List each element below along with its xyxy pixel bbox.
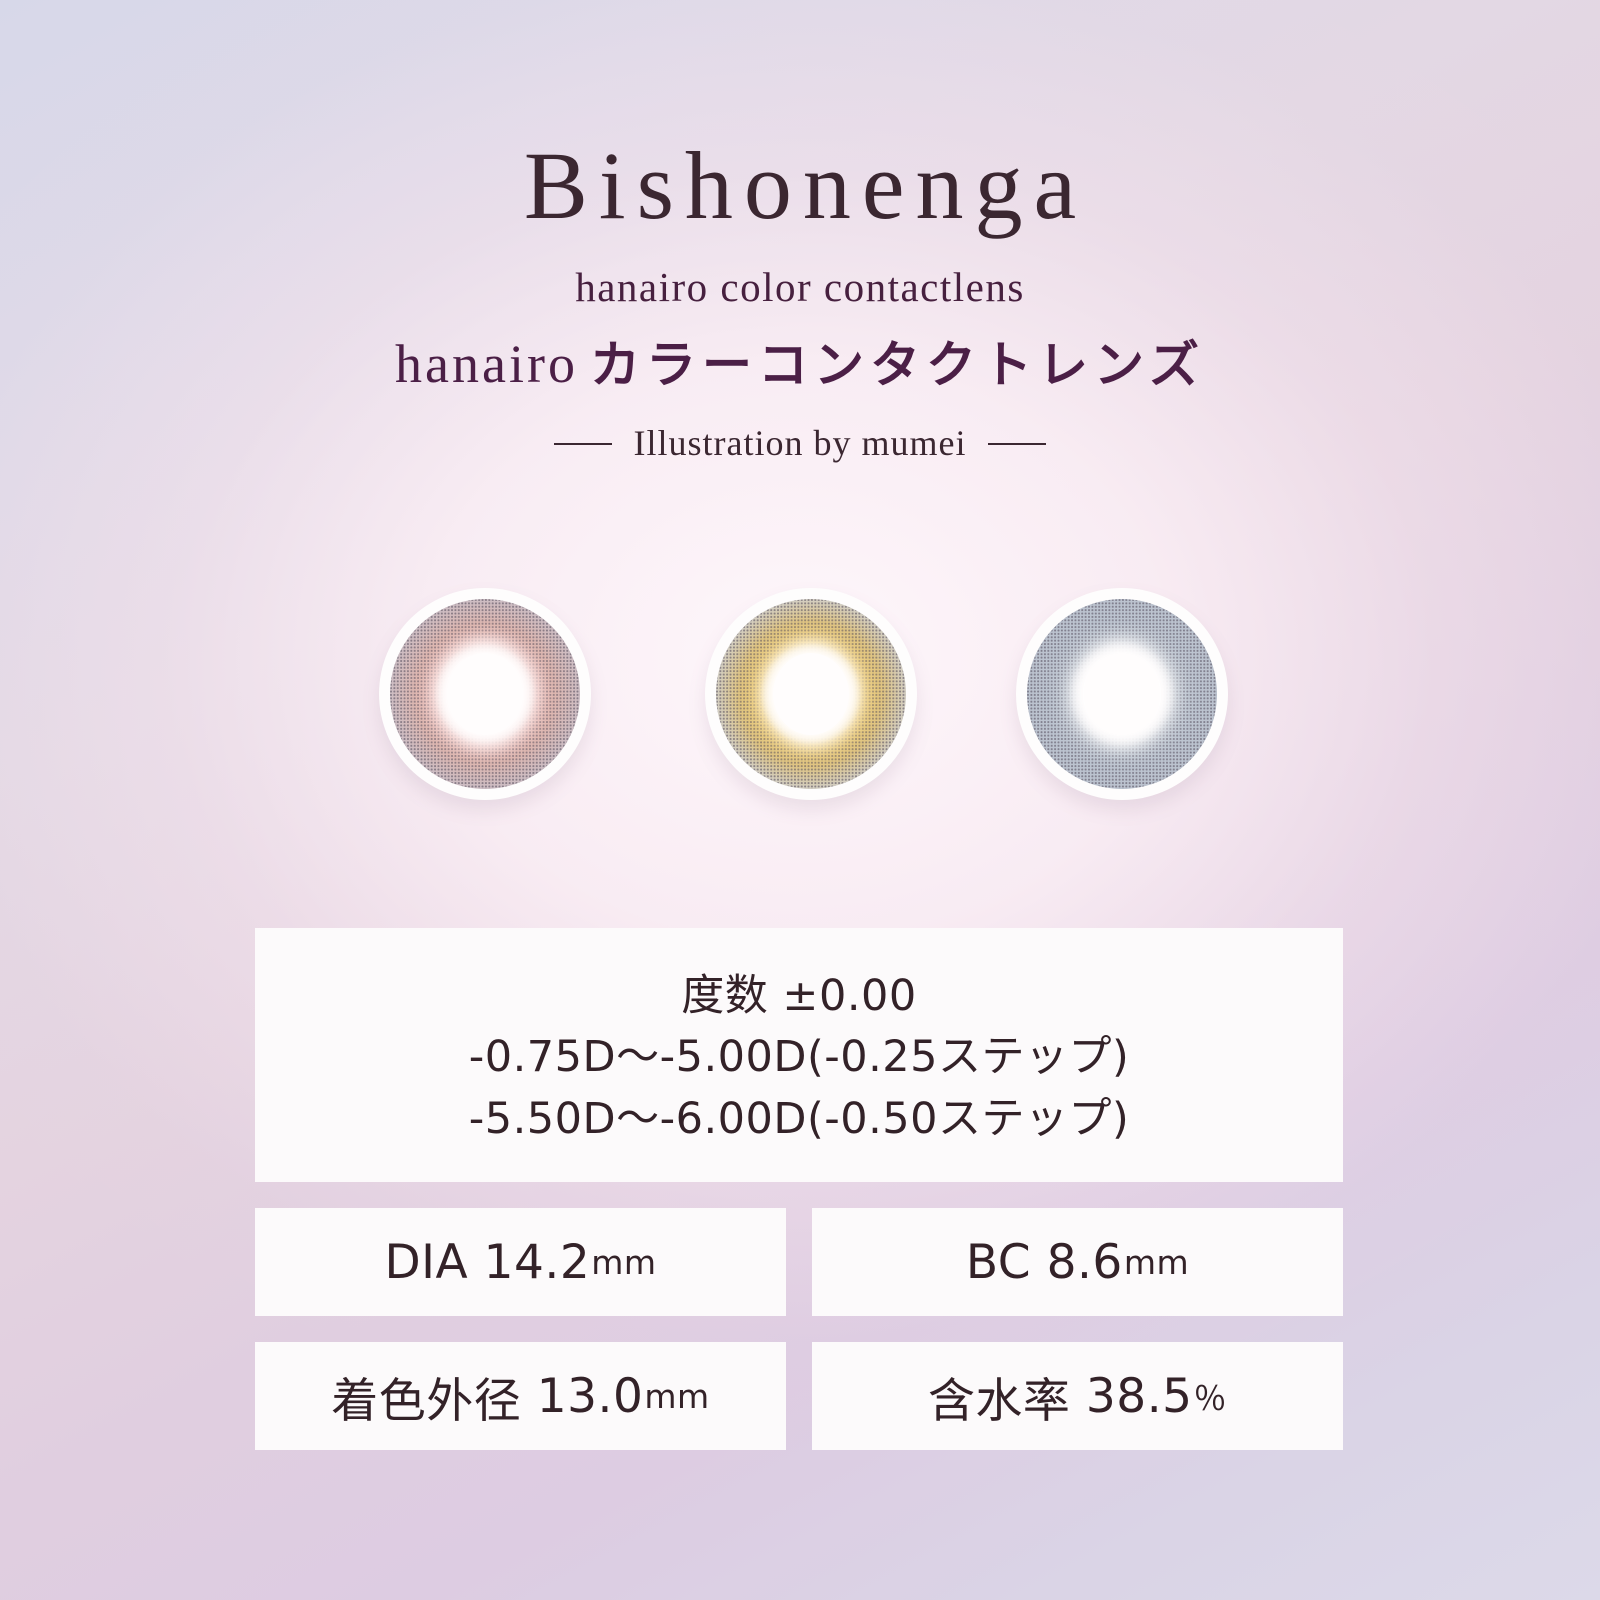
lens-swatch-gold[interactable] — [705, 588, 917, 800]
lens-pupil-hole — [447, 653, 523, 735]
spec-box-water-content: 含水率 38.5％ — [812, 1342, 1343, 1450]
brand-subtitle-kana: カラーコンタクトレンズ — [590, 336, 1205, 394]
brand-subtitle-english: hanairo color contactlens — [0, 234, 1600, 308]
spec-value-water-content: 38.5 — [1086, 1369, 1193, 1424]
brand-subtitle-romaji: hanairo — [395, 334, 578, 394]
illustration-credit: Illustration by mumei — [0, 393, 1600, 461]
spec-label-colored-diameter: 着色外径 — [331, 1362, 521, 1431]
spec-label-water-content: 含水率 — [928, 1362, 1071, 1431]
dash-right-icon — [988, 443, 1046, 445]
power-line-degree: 度数 ±0.00 — [681, 966, 916, 1027]
lens-swatch-pink[interactable] — [379, 588, 591, 800]
lens-pupil-hole — [773, 653, 849, 735]
credit-text: Illustration by mumei — [634, 423, 967, 463]
power-line-range-2: -5.50D〜-6.00D(-0.50ステップ) — [469, 1089, 1130, 1150]
spec-box-colored-diameter: 着色外径 13.0mm — [255, 1342, 786, 1450]
power-line-range-1: -0.75D〜-5.00D(-0.25ステップ) — [469, 1027, 1130, 1088]
spec-box-bc: BC 8.6mm — [812, 1208, 1343, 1316]
lens-swatch-row — [0, 588, 1600, 812]
spec-unit-water-content: ％ — [1194, 1372, 1228, 1420]
spec-value-bc: 8.6 — [1047, 1235, 1123, 1290]
spec-value-dia: 14.2 — [484, 1235, 591, 1290]
page-title: Bishonenga — [0, 0, 1600, 234]
spec-unit-bc: mm — [1124, 1243, 1189, 1282]
specification-area: 度数 ±0.00 -0.75D〜-5.00D(-0.25ステップ) -5.50D… — [255, 928, 1343, 1450]
product-poster: Bishonenga hanairo color contactlens han… — [0, 0, 1600, 1600]
spec-box-dia: DIA 14.2mm — [255, 1208, 786, 1316]
spec-value-colored-diameter: 13.0 — [537, 1369, 644, 1424]
lens-pupil-hole — [1084, 653, 1160, 735]
lens-swatch-blue-gray[interactable] — [1016, 588, 1228, 800]
spec-unit-dia: mm — [591, 1243, 656, 1282]
dash-left-icon — [554, 443, 612, 445]
spec-label-dia: DIA — [384, 1235, 468, 1290]
poster-header: Bishonenga hanairo color contactlens han… — [0, 0, 1600, 461]
spec-grid: DIA 14.2mm BC 8.6mm 着色外径 13.0mm 含水率 38.5… — [255, 1208, 1343, 1450]
spec-unit-colored-diameter: mm — [644, 1377, 709, 1416]
power-spec-box: 度数 ±0.00 -0.75D〜-5.00D(-0.25ステップ) -5.50D… — [255, 928, 1343, 1182]
spec-label-bc: BC — [966, 1235, 1031, 1290]
brand-subtitle-japanese: hanairoカラーコンタクトレンズ — [0, 308, 1600, 393]
